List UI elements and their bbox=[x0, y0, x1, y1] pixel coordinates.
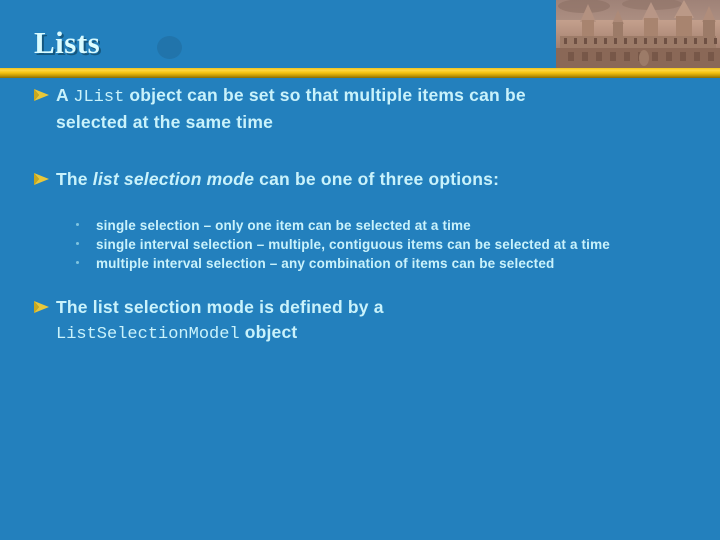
bullet-text-a: The bbox=[56, 169, 93, 189]
arrow-bullet-icon bbox=[33, 88, 50, 102]
gold-divider-bar bbox=[0, 68, 720, 78]
bullet-text-a: A bbox=[56, 85, 73, 105]
arrow-bullet-glyph bbox=[33, 88, 50, 102]
arrow-bullet-glyph bbox=[33, 300, 50, 314]
emphasis-list-selection-mode: list selection mode bbox=[93, 169, 254, 189]
spacer-3 bbox=[0, 273, 720, 295]
slide: Lists A JList object can be set so that … bbox=[0, 0, 720, 540]
sub-bullet-label: multiple interval selection – any combin… bbox=[96, 256, 554, 271]
arrow-bullet-icon bbox=[33, 172, 50, 186]
bullet-text-b: can be one of three options: bbox=[254, 169, 499, 189]
spacer-1 bbox=[0, 135, 720, 167]
bullet-defined-by: The list selection mode is defined by a … bbox=[0, 295, 720, 347]
dot-bullet-icon bbox=[76, 261, 79, 264]
page-title: Lists bbox=[34, 25, 100, 61]
sub-bullet-multiple-interval-selection: multiple interval selection – any combin… bbox=[0, 254, 720, 273]
bullet-text-b: object bbox=[240, 322, 298, 342]
bullet-text-a: The list selection mode is defined by a bbox=[56, 297, 384, 317]
sub-bullet-single-selection: single selection – only one item can be … bbox=[0, 216, 720, 235]
code-jlist: JList bbox=[73, 88, 124, 107]
dot-bullet-icon bbox=[76, 223, 79, 226]
bullet-jlist: A JList object can be set so that multip… bbox=[0, 83, 720, 135]
code-listselectionmodel: ListSelectionModel bbox=[56, 325, 240, 344]
sub-bullet-list: single selection – only one item can be … bbox=[0, 216, 720, 273]
title-accent-dot bbox=[157, 36, 182, 59]
sand-castle-photo-icon bbox=[556, 0, 720, 68]
bullet-text-b: object can be set so that multiple items… bbox=[124, 85, 526, 105]
sub-bullet-label: single interval selection – multiple, co… bbox=[96, 237, 610, 252]
arrow-bullet-glyph bbox=[33, 172, 50, 186]
bullet-selection-mode: The list selection mode can be one of th… bbox=[0, 167, 720, 192]
slide-body: A JList object can be set so that multip… bbox=[0, 78, 720, 540]
header-image bbox=[556, 0, 720, 68]
spacer-2 bbox=[0, 192, 720, 216]
sub-bullet-single-interval-selection: single interval selection – multiple, co… bbox=[0, 235, 720, 254]
bullet-text-c: selected at the same time bbox=[56, 112, 273, 132]
arrow-bullet-icon bbox=[33, 300, 50, 314]
dot-bullet-icon bbox=[76, 242, 79, 245]
sub-bullet-label: single selection – only one item can be … bbox=[96, 218, 471, 233]
